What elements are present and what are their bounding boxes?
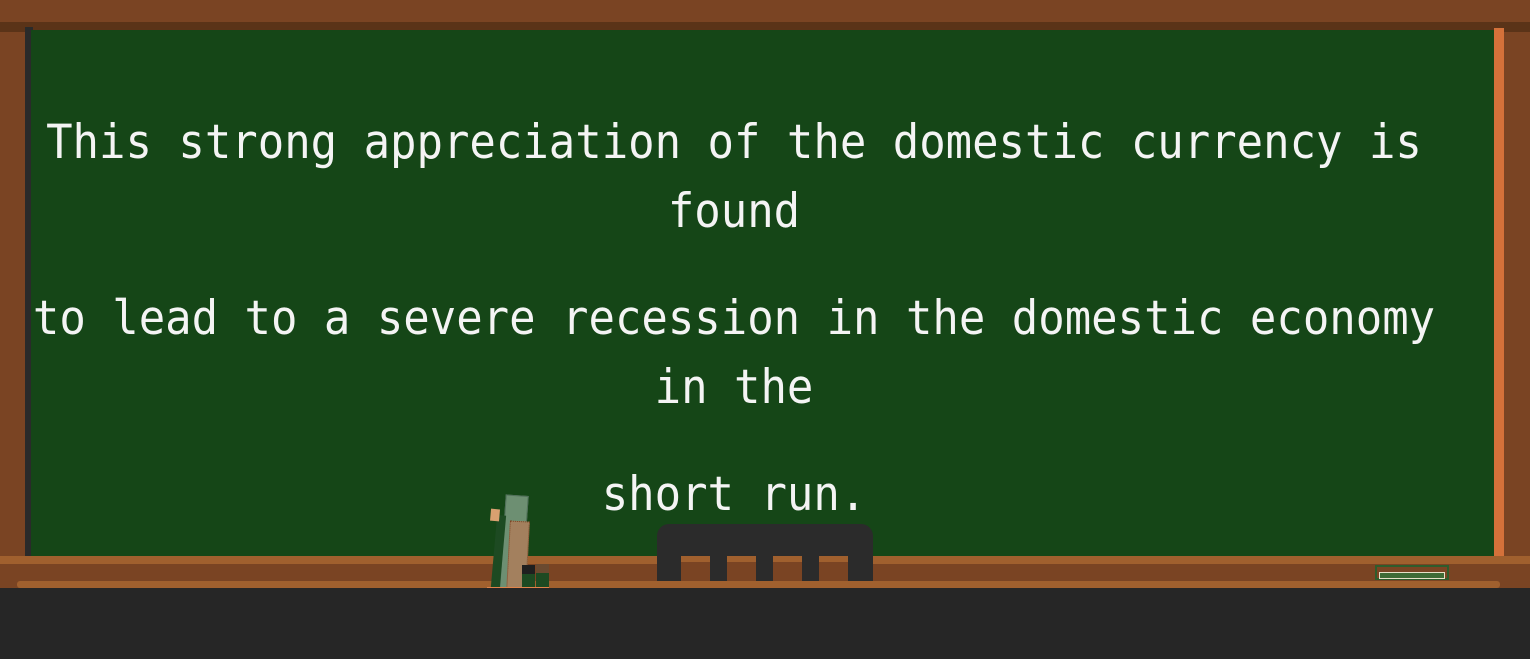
eraser-felt <box>1379 572 1445 579</box>
chalkboard-eraser-icon <box>1375 565 1449 580</box>
chalk-tray-front-strip <box>17 581 1500 588</box>
marker-cap-1 <box>522 565 535 574</box>
floor <box>0 588 1530 659</box>
marker-cap-2 <box>536 564 549 573</box>
board-edge-highlight-right <box>1494 28 1504 561</box>
chalkboard-scene: This strong appreciation of the domestic… <box>0 0 1530 659</box>
pencil-tip <box>490 509 500 522</box>
chalkboard-surface <box>31 30 1496 558</box>
